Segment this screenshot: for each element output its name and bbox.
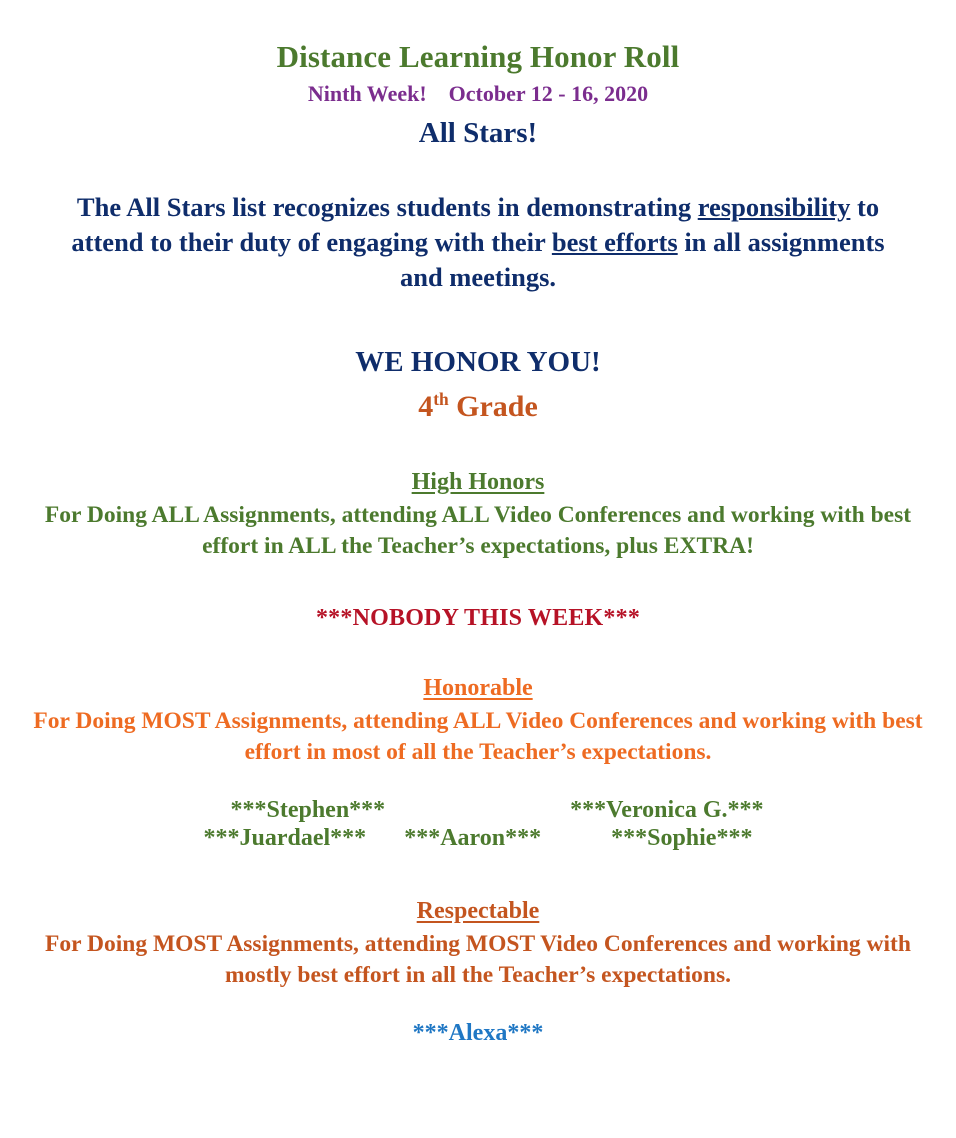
grade-ordinal-suffix: th: [433, 389, 448, 409]
section-description-high-honors: For Doing ALL Assignments, attending ALL…: [28, 500, 928, 562]
student-name: ***Stephen***: [230, 796, 385, 824]
section-heading-honorable: Honorable: [24, 676, 932, 700]
section-description-respectable: For Doing MOST Assignments, attending MO…: [28, 929, 928, 991]
honorable-name-list: ***Stephen*** ***Veronica G.*** ***Juard…: [83, 796, 873, 853]
grade-level-heading: 4th Grade: [24, 392, 932, 422]
student-name: ***Aaron***: [404, 824, 541, 852]
grade-number: 4: [418, 390, 433, 423]
section-respectable: Respectable For Doing MOST Assignments, …: [24, 899, 932, 1045]
section-heading-respectable: Respectable: [24, 899, 932, 923]
name-row: ***Stephen*** ***Veronica G.***: [83, 796, 873, 824]
student-name: ***Juardael***: [204, 824, 367, 852]
honor-roll-document: Distance Learning Honor Roll Ninth Week!…: [0, 0, 956, 1138]
name-row: ***Juardael*** ***Aaron*** ***Sophie***: [83, 824, 873, 852]
student-name: ***Sophie***: [611, 824, 752, 852]
grade-word: Grade: [456, 390, 538, 423]
student-name: ***Alexa***: [24, 1021, 932, 1045]
student-name: ***Veronica G.***: [570, 796, 763, 824]
intro-underline-best-efforts: best efforts: [552, 227, 678, 257]
intro-paragraph: The All Stars list recognizes students i…: [58, 190, 898, 296]
award-name-heading: All Stars!: [24, 119, 932, 148]
intro-underline-responsibility: responsibility: [698, 192, 851, 222]
section-honorable: Honorable For Doing MOST Assignments, at…: [24, 676, 932, 853]
section-heading-high-honors: High Honors: [24, 470, 932, 494]
intro-text-part-1: The All Stars list recognizes students i…: [77, 192, 698, 222]
we-honor-you-heading: WE HONOR YOU!: [24, 348, 932, 377]
high-honors-empty-notice: ***NOBODY THIS WEEK***: [24, 606, 932, 630]
section-description-honorable: For Doing MOST Assignments, attending AL…: [28, 706, 928, 768]
section-high-honors: High Honors For Doing ALL Assignments, a…: [24, 470, 932, 630]
document-subtitle: Ninth Week! October 12 - 16, 2020: [24, 83, 932, 105]
document-title: Distance Learning Honor Roll: [24, 0, 932, 72]
